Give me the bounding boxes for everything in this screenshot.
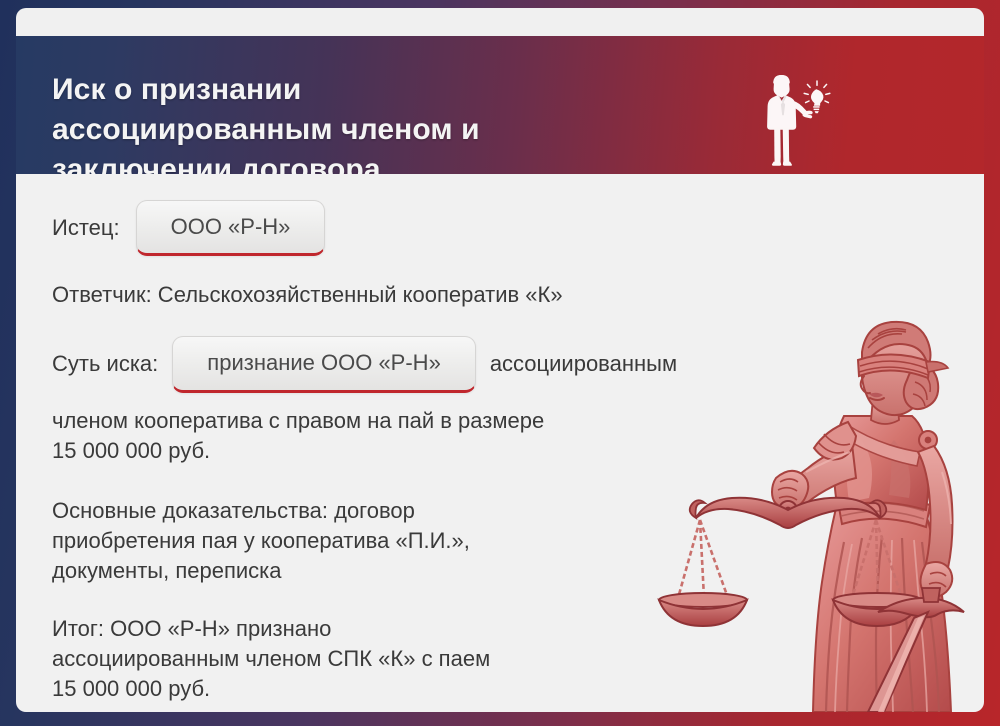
plaintiff-row: Истец: ООО «Р-Н» — [52, 200, 712, 256]
plaintiff-badge[interactable]: ООО «Р-Н» — [136, 200, 326, 256]
defendant-row: Ответчик: Сельскохозяйственный кооперати… — [52, 280, 712, 310]
page-title: Иск о признании ассоциированным членом и… — [52, 70, 772, 190]
plaintiff-label: Истец: — [52, 213, 120, 243]
businessman-with-lightbulb-icon — [762, 70, 836, 170]
claim-badge[interactable]: признание ООО «Р-Н» — [172, 336, 476, 392]
claim-continuation-text: членом кооператива с правом на пай в раз… — [52, 406, 712, 466]
defendant-label: Ответчик: Сельскохозяйственный кооперати… — [52, 280, 563, 310]
claim-label: Суть иска: — [52, 349, 158, 379]
result-text: Итог: ООО «Р-Н» признано ассоциированным… — [52, 614, 712, 704]
body-card: Истец: ООО «Р-Н» Ответчик: Сельскохозяйс… — [16, 174, 984, 712]
case-summary: Истец: ООО «Р-Н» Ответчик: Сельскохозяйс… — [52, 200, 712, 704]
slide-card: Иск о признании ассоциированным членом и… — [0, 0, 1000, 726]
claim-row: Суть иска: признание ООО «Р-Н» ассоцииро… — [52, 336, 712, 392]
card-frame: Иск о признании ассоциированным членом и… — [16, 8, 984, 712]
claim-tail-text: ассоциированным — [490, 349, 677, 379]
header-band: Иск о признании ассоциированным членом и… — [16, 36, 984, 174]
evidence-text: Основные доказательства: договор приобре… — [52, 496, 712, 586]
